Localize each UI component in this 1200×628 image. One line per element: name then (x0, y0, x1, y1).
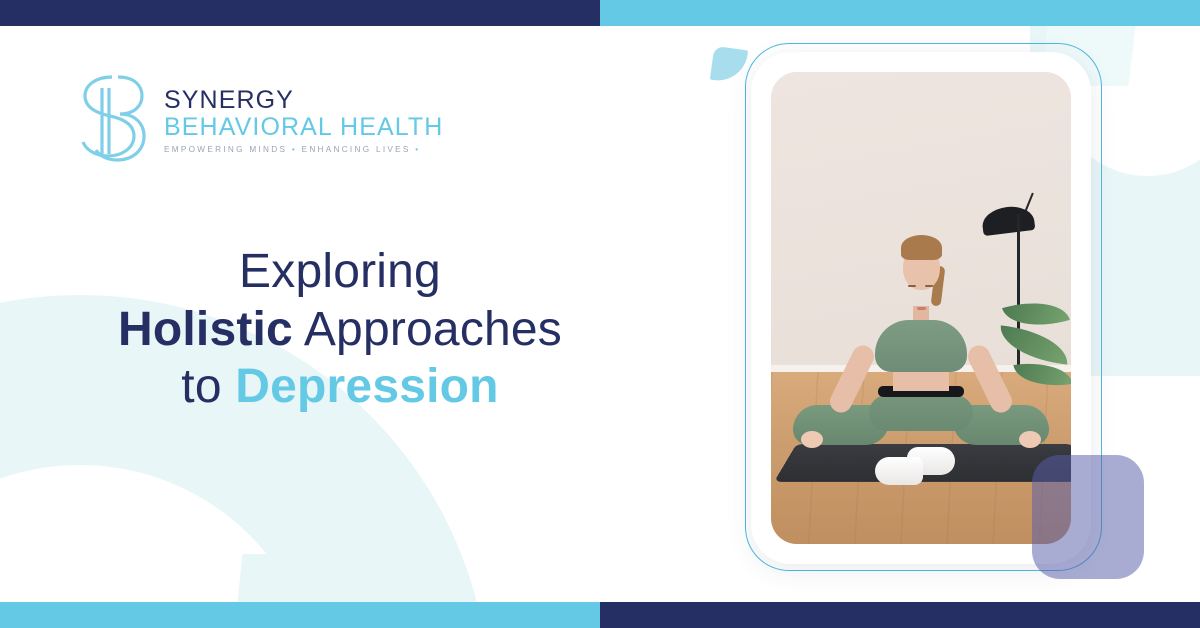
white-sneaker-front (875, 457, 923, 485)
headline-word-holistic: Holistic (118, 303, 293, 356)
lips (917, 307, 926, 310)
hair (901, 235, 942, 260)
left-hand (801, 431, 823, 448)
green-crop-top (875, 320, 967, 372)
blog-banner: SYNERGY BEHAVIORAL HEALTH EMPOWERING MIN… (0, 0, 1200, 628)
leaf-accent-shape (710, 46, 748, 84)
headline-line-2: Holistic Approaches (30, 301, 650, 359)
bottom-bar-right-segment (600, 602, 1200, 628)
tagline-dot1: • (292, 145, 297, 154)
headline-line-1: Exploring (30, 243, 650, 301)
mint-slab-bottom (237, 554, 412, 602)
bottom-accent-bar (0, 602, 1200, 628)
tagline-part1: EMPOWERING MINDS (164, 145, 287, 154)
headline-word-exploring: Exploring (239, 245, 441, 298)
brand-tagline: EMPOWERING MINDS • ENHANCING LIVES • (164, 145, 443, 154)
meditating-woman (771, 72, 1071, 544)
brand-logo[interactable]: SYNERGY BEHAVIORAL HEALTH EMPOWERING MIN… (72, 70, 443, 166)
tagline-part2: ENHANCING LIVES (302, 145, 411, 154)
page-title: Exploring Holistic Approaches to Depress… (30, 243, 650, 416)
purple-rounded-square (1032, 455, 1144, 579)
synergy-sb-monogram-icon (72, 70, 150, 166)
hips (869, 395, 973, 431)
top-accent-bar (0, 0, 1200, 26)
top-bar-right-segment (600, 0, 1200, 26)
brand-name-line2: BEHAVIORAL HEALTH (164, 114, 443, 141)
brand-logo-text: SYNERGY BEHAVIORAL HEALTH EMPOWERING MIN… (164, 83, 443, 154)
top-bar-left-segment (0, 0, 600, 26)
hero-photo (771, 72, 1071, 544)
headline-word-to: to (181, 360, 235, 413)
bottom-bar-left-segment (0, 602, 600, 628)
tagline-dot2: • (415, 145, 420, 154)
headline-word-approaches: Approaches (293, 303, 562, 356)
headline-line-3: to Depression (30, 358, 650, 416)
right-hand (1019, 431, 1041, 448)
headline-word-depression: Depression (235, 360, 498, 413)
brand-name-line1: SYNERGY (164, 87, 443, 114)
